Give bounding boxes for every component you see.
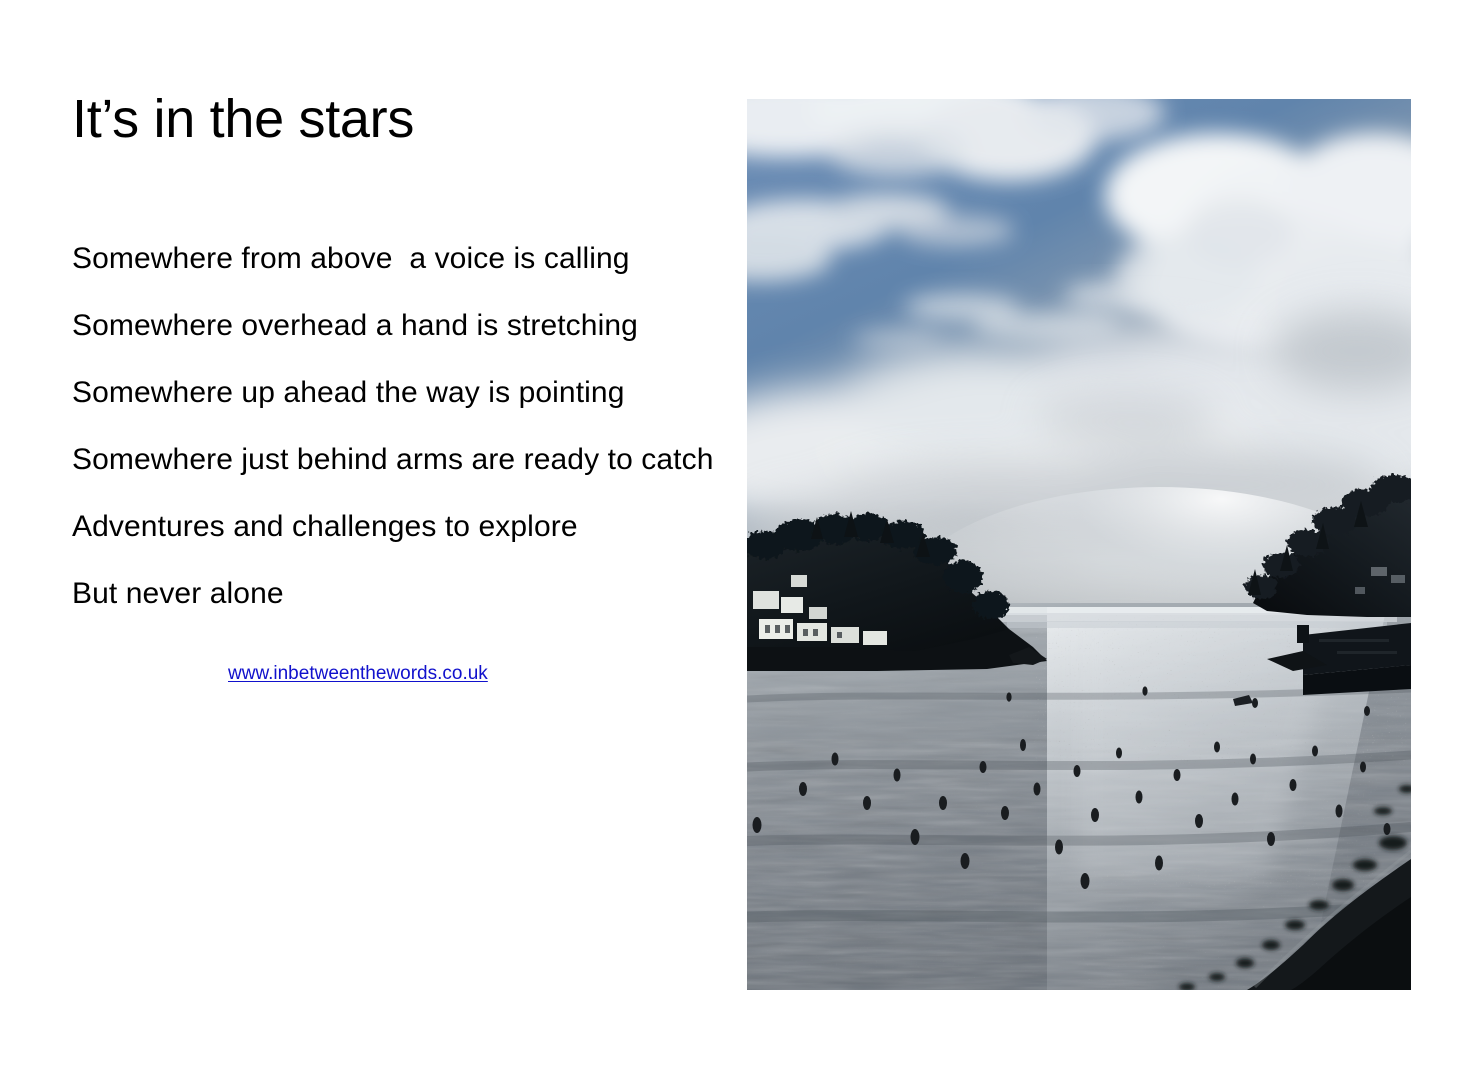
poem-stanza: Somewhere from above a voice is calling — [72, 240, 722, 277]
photo-artwork — [747, 99, 1411, 990]
page-title: It’s in the stars — [72, 88, 722, 150]
poem-stanza: But never alone — [72, 575, 722, 612]
poem-body: Somewhere from above a voice is calling … — [72, 240, 722, 612]
estuary-photograph — [747, 99, 1411, 990]
slide-canvas: It’s in the stars Somewhere from above a… — [0, 0, 1457, 1091]
poem-stanza: Adventures and challenges to explore — [72, 508, 722, 545]
poem-stanza: Somewhere just behind arms are ready to … — [72, 441, 722, 478]
poem-stanza: Somewhere overhead a hand is stretching — [72, 307, 722, 344]
website-link[interactable]: www.inbetweenthewords.co.uk — [228, 663, 488, 684]
credit-row: www.inbetweenthewords.co.uk — [72, 662, 722, 686]
poem-stanza: Somewhere up ahead the way is pointing — [72, 374, 722, 411]
text-column: It’s in the stars Somewhere from above a… — [72, 88, 722, 686]
